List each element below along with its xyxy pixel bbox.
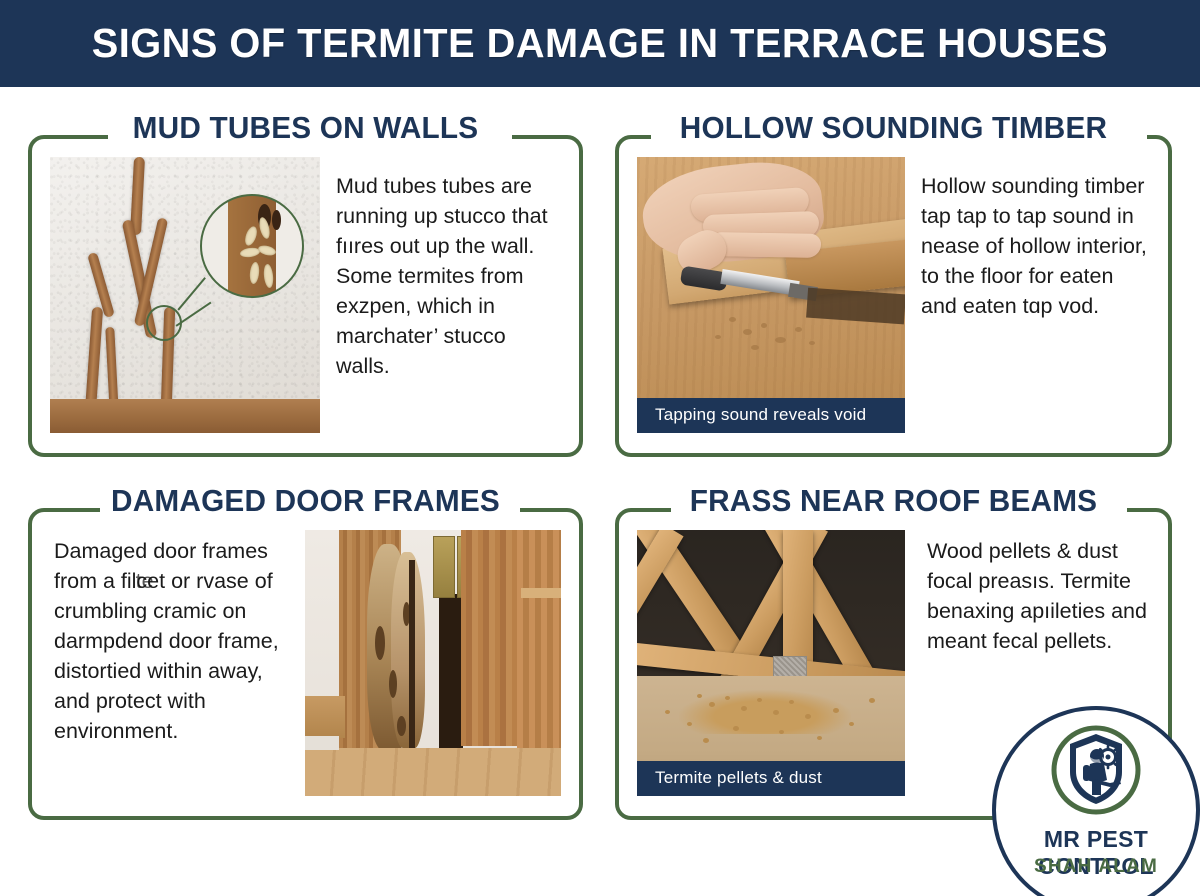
magnified-termite-inset [200, 194, 304, 298]
door-text-line-2-end: ase of [214, 569, 273, 593]
pest-control-shield-icon [1050, 724, 1142, 816]
logo-location: SHAH ALAM [992, 856, 1200, 878]
card-body-damaged-door: Damaged door frames from a filcetet or r… [32, 512, 579, 816]
skirting-board [305, 696, 345, 738]
photo-mud-tubes-on-wall [50, 157, 320, 433]
door-gap [439, 594, 463, 750]
door-text-line-2-mid: t or r [159, 569, 203, 593]
brand-logo: MR PEST CONTROL SHAH ALAM [992, 706, 1200, 896]
door-text-glitch: lcete [132, 566, 159, 596]
infographic-page: SIGNS OF TERMITE DAMAGE IN TERRACE HOUSE… [0, 0, 1200, 896]
door-text-rest: crumbling cramic on darmpdend door frame… [54, 599, 279, 743]
floor [305, 748, 561, 796]
photo-attic-frass: Termite pellets & dust [637, 530, 905, 796]
door-slab [461, 530, 517, 746]
card-body-hollow-timber: Tapping sound reveals void Hollow soundi… [619, 139, 1168, 453]
card-text-hollow-timber: Hollow sounding timber tap tap to tap so… [921, 157, 1148, 321]
card-mud-tubes-on-walls: MUD TUBES ON WALLS [28, 135, 583, 457]
card-text-damaged-door: Damaged door frames from a filcetet or r… [54, 530, 289, 746]
door-text-line-2-base: from a fi [54, 569, 132, 593]
photo-caption-hollow-timber: Tapping sound reveals void [637, 398, 905, 433]
soil-line [50, 399, 320, 433]
door-text-line-1: Damaged door frames [54, 539, 268, 563]
card-text-mud-tubes: Mud tubes tubes are running up stucco th… [336, 157, 559, 381]
photo-hollow-timber-tapping: Tapping sound reveals void [637, 157, 905, 433]
card-damaged-door-frames: DAMAGED DOOR FRAMES [28, 508, 583, 820]
card-text-frass: Wood pellets & dust focal preasıs. Termi… [921, 530, 1148, 656]
card-hollow-sounding-timber: HOLLOW SOUNDING TIMBER [615, 135, 1172, 457]
photo-caption-frass: Termite pellets & dust [637, 761, 905, 796]
card-body-mud-tubes: Mud tubes tubes are running up stucco th… [32, 139, 579, 453]
header-band: SIGNS OF TERMITE DAMAGE IN TERRACE HOUSE… [0, 0, 1200, 87]
photo-damaged-door-frame [305, 530, 561, 796]
door-panel [517, 530, 561, 750]
glitch-over: te [136, 566, 154, 596]
door-text-glitch-c: v [203, 569, 214, 593]
page-title: SIGNS OF TERMITE DAMAGE IN TERRACE HOUSE… [92, 20, 1108, 67]
door-hinge [433, 536, 455, 598]
